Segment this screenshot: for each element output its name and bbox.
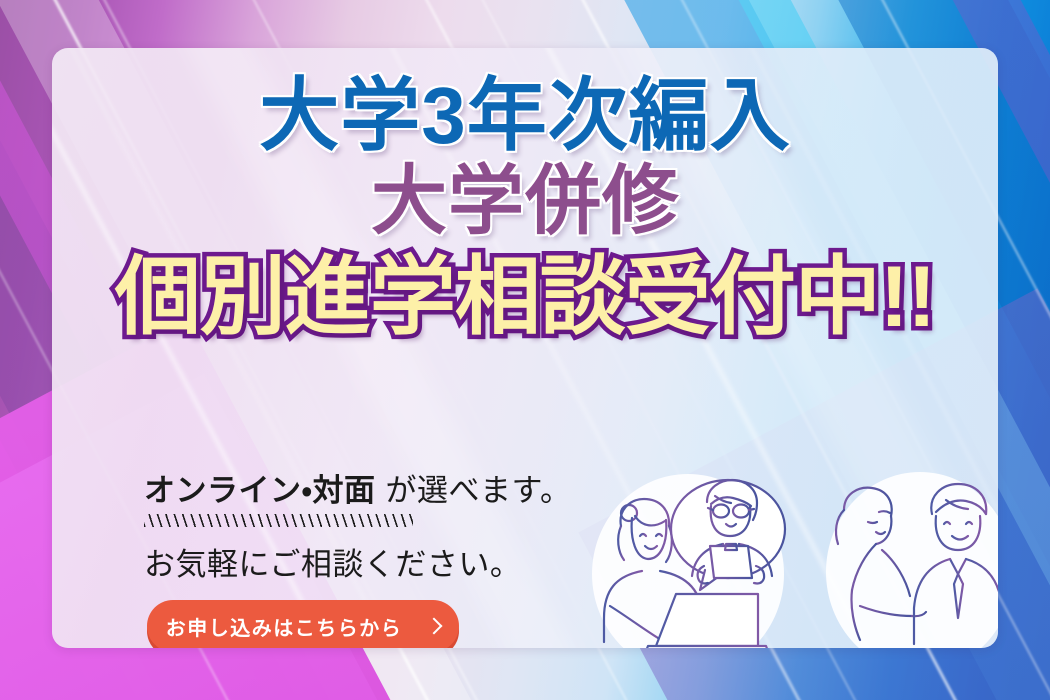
headline-line-3: 個別進学相談受付中!! bbox=[52, 254, 998, 340]
hatched-underline bbox=[144, 514, 413, 527]
online-consultation-illustration bbox=[580, 474, 786, 648]
consultation-illustrations-svg bbox=[580, 466, 998, 648]
illustration-group bbox=[580, 466, 998, 648]
subcopy-emphasis: オンライン・対面 bbox=[144, 472, 376, 511]
subcopy-tail: が選べます。 bbox=[386, 472, 572, 509]
headline-line-1: 大学3年次編入 bbox=[52, 76, 998, 156]
apply-button[interactable]: お申し込みはこちらから bbox=[147, 600, 459, 648]
subcopy-block: オンライン・対面 が選べます。 お気軽にご相談ください。 bbox=[144, 472, 614, 584]
subcopy-row-1: オンライン・対面 が選べます。 bbox=[144, 472, 614, 511]
apply-button-label: お申し込みはこちらから bbox=[166, 612, 403, 641]
content-panel: 大学3年次編入 大学併修 個別進学相談受付中!! オンライン・対面 が選べます。… bbox=[52, 48, 998, 648]
subcopy-row-2: お気軽にご相談ください。 bbox=[144, 539, 614, 584]
headline-line-2: 大学併修 bbox=[52, 164, 998, 240]
promo-banner: 大学3年次編入 大学併修 個別進学相談受付中!! オンライン・対面 が選べます。… bbox=[0, 0, 1050, 700]
in-person-consultation-illustration bbox=[826, 472, 998, 648]
chevron-right-icon bbox=[426, 618, 443, 635]
headline-group: 大学3年次編入 大学併修 個別進学相談受付中!! bbox=[52, 76, 998, 340]
